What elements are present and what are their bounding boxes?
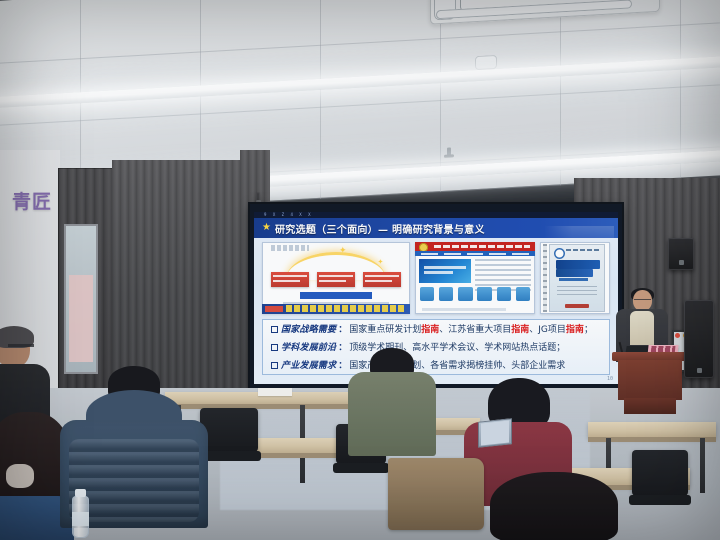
portal-service-icons [420, 287, 530, 301]
government-portal-screenshot-panel [415, 242, 535, 314]
paper-sheet [258, 388, 292, 396]
panel-footer-banner [262, 304, 410, 314]
sparkle-icon: ✦ [377, 258, 383, 267]
slide-title-bar: ★ 研究选题（三个面向）— 明确研究背景与意义 [254, 218, 618, 238]
bullet-colon: ： [338, 325, 347, 335]
bullet-row-2: 学科发展前沿 ： 顶级学术期刊、高水平学术会议、学术网站热点话题； [271, 340, 604, 355]
yellow-headline-text [286, 305, 404, 312]
audience-member [490, 472, 618, 540]
podium-base [624, 398, 676, 414]
bullet-square-icon [271, 362, 278, 369]
laptop[interactable] [478, 418, 512, 448]
wall-speaker-right [668, 238, 694, 270]
blue-label-bar [300, 292, 371, 298]
audience-member [348, 348, 436, 456]
wall-logo: 青匠 [12, 192, 54, 258]
red-box [363, 272, 401, 286]
portal-title-text [434, 245, 530, 248]
policy-diagram-panel: ✦ ✦ [262, 242, 410, 314]
bullet-lead: 国家战略需要 [281, 325, 336, 335]
portal-banner-image [419, 259, 472, 283]
service-icon [420, 287, 434, 301]
spiral-binding [543, 244, 547, 312]
portal-header [415, 242, 535, 251]
report-title-line [556, 260, 600, 269]
report-body-text [557, 286, 597, 295]
institution-logo-icon [554, 248, 565, 259]
bullet-row-3: 产业发展需求 ： 国家产业发展规划、各省需求揭榜挂帅、头部企业需求 [271, 358, 604, 373]
smoke-detector [475, 55, 497, 70]
conference-room-photo: 青匠 9 X Z 4 X X ★ 研究选题（三个面向）— 明确研究背景与意义 [0, 0, 720, 540]
bullet-text: 、JG项目 [529, 325, 566, 335]
bullet-text: 、江苏省重大项目 [439, 325, 511, 335]
strategy-report-cover-panel [540, 242, 610, 314]
service-icon [439, 287, 453, 301]
slide-bullet-box: 国家战略需要 ： 国家重点研发计划 指南 、江苏省重大项目 指南 、JG项目 指… [262, 319, 610, 375]
bullet-row-1: 国家战略需要 ： 国家重点研发计划 指南 、江苏省重大项目 指南 、JG项目 指… [271, 322, 604, 337]
service-icon [497, 287, 511, 301]
projection-screen: 9 X Z 4 X X ★ 研究选题（三个面向）— 明确研究背景与意义 ✦ ✦ [250, 204, 622, 390]
sparkle-icon: ✦ [339, 246, 347, 255]
portal-footer [422, 308, 506, 312]
bullet-text: 国家重点研发计划 [349, 325, 421, 335]
sprinkler-head [447, 147, 451, 155]
panel-header-line [271, 245, 309, 251]
draped-coat [388, 458, 484, 530]
water-bottle [72, 496, 89, 538]
bullet-highlight: 指南 [566, 325, 584, 335]
bullet-highlight: 指南 [421, 325, 439, 335]
report-title-line [556, 269, 593, 277]
door-glass-panel [64, 224, 98, 374]
city-skyline-graphic [544, 226, 614, 238]
red-box [271, 272, 309, 286]
service-icon [477, 287, 491, 301]
service-icon [458, 287, 472, 301]
red-box [317, 272, 355, 286]
red-tag [265, 306, 283, 312]
slide-title: 研究选题（三个面向）— 明确研究背景与意义 [275, 221, 485, 236]
person-torso [348, 372, 436, 456]
institution-name-text [566, 249, 601, 251]
service-icon [516, 287, 530, 301]
bullet-square-icon [271, 326, 278, 333]
person-hair [490, 472, 618, 540]
bullet-lead: 产业发展需求 [281, 361, 336, 371]
office-chair [632, 450, 688, 496]
podium [612, 352, 688, 414]
presentation-slide: 9 X Z 4 X X ★ 研究选题（三个面向）— 明确研究背景与意义 ✦ ✦ [254, 212, 618, 384]
report-subtitle-line [559, 278, 588, 281]
podium-body [618, 360, 682, 400]
table-leg [700, 438, 705, 493]
portal-nav-bar [415, 251, 535, 256]
report-cover [549, 244, 605, 312]
bullet-lead: 学科发展前沿 [281, 343, 336, 353]
portal-news-list [475, 259, 531, 283]
bullet-text: ； [584, 325, 593, 335]
face-mask [6, 464, 34, 488]
bullet-colon: ： [338, 343, 347, 353]
star-icon: ★ [262, 223, 271, 233]
publisher-mark [565, 304, 590, 308]
slide-image-panels: ✦ ✦ [262, 242, 610, 314]
glasses-icon [8, 344, 34, 347]
presenter-shirt [630, 311, 654, 345]
floor-speaker [684, 300, 714, 378]
bullet-colon: ： [338, 361, 347, 371]
bullet-highlight: 指南 [511, 325, 529, 335]
bullet-square-icon [271, 344, 278, 351]
glasses-icon [634, 299, 651, 304]
student-table [588, 422, 716, 438]
slide-code-text: 9 X Z 4 X X [264, 212, 313, 217]
door-notice [69, 275, 93, 362]
